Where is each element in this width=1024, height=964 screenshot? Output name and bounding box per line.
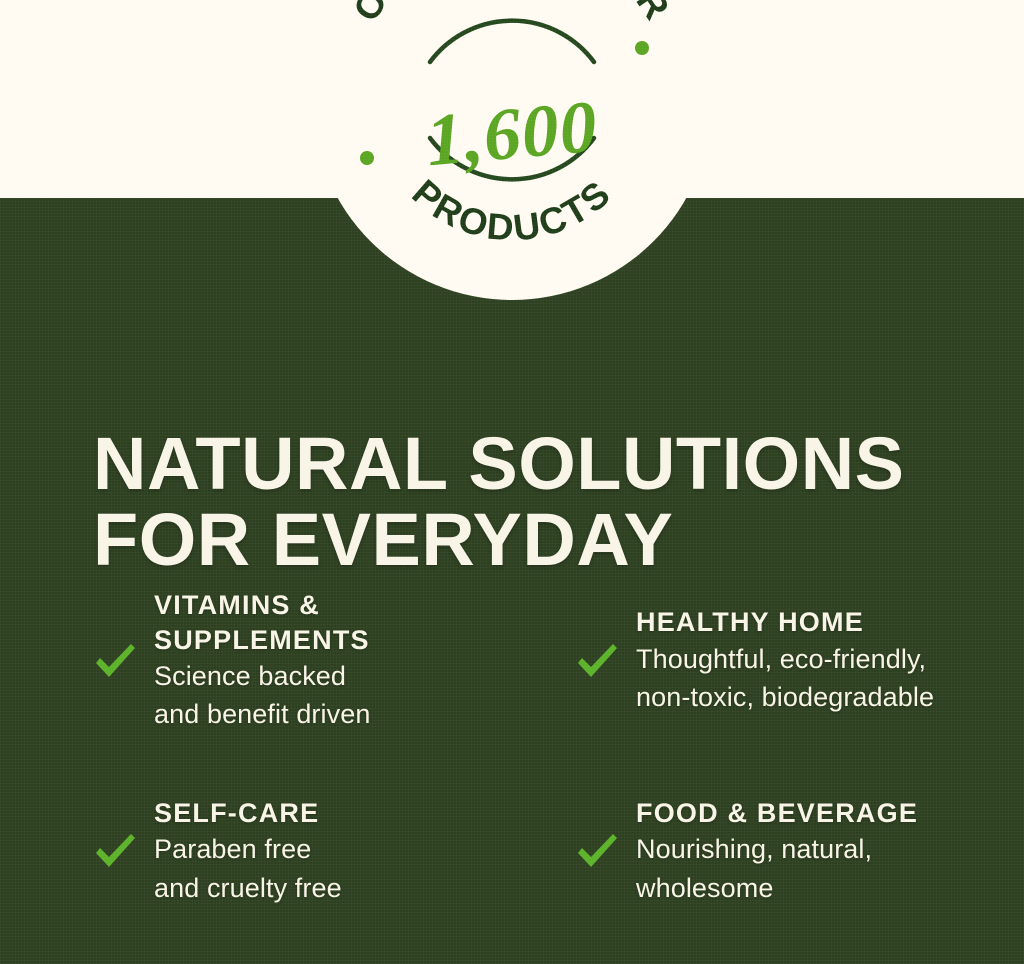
feature-description-line-2: wholesome — [636, 869, 918, 907]
feature-description: Science backed and benefit driven — [154, 657, 370, 734]
feature-title: VITAMINS & — [154, 588, 370, 623]
feature-description: Nourishing, natural, wholesome — [636, 830, 918, 907]
feature-item-healthy-home: HEALTHY HOME Thoughtful, eco-friendly, n… — [574, 588, 1024, 734]
feature-title: HEALTHY HOME — [636, 605, 934, 640]
page-title: NATURAL SOLUTIONS FOR EVERYDAY — [93, 426, 973, 578]
promo-banner: OFFERING OVER PRODUCTS 1,600 NATURAL SOL… — [0, 0, 1024, 964]
feature-list: VITAMINS & SUPPLEMENTS Science backed an… — [0, 588, 1024, 907]
feature-description-line-2: and cruelty free — [154, 869, 342, 907]
feature-description: Paraben free and cruelty free — [154, 830, 342, 907]
feature-description-line-1: Paraben free — [154, 830, 342, 868]
feature-title: FOOD & BEVERAGE — [636, 796, 918, 831]
feature-description-line-1: Science backed — [154, 657, 370, 695]
feature-title: SELF-CARE — [154, 796, 342, 831]
check-icon — [574, 638, 620, 684]
check-icon — [92, 828, 138, 874]
feature-description-line-2: non-toxic, biodegradable — [636, 678, 934, 716]
feature-item-vitamins-supplements: VITAMINS & SUPPLEMENTS Science backed an… — [92, 588, 542, 734]
offering-badge: OFFERING OVER PRODUCTS 1,600 — [312, 0, 712, 300]
feature-text: SELF-CARE Paraben free and cruelty free — [154, 796, 342, 907]
check-icon — [92, 638, 138, 684]
feature-description-line-1: Thoughtful, eco-friendly, — [636, 640, 934, 678]
feature-item-food-beverage: FOOD & BEVERAGE Nourishing, natural, who… — [574, 796, 1024, 907]
badge-dot-right — [635, 41, 649, 55]
check-icon — [574, 828, 620, 874]
feature-text: VITAMINS & SUPPLEMENTS Science backed an… — [154, 588, 370, 734]
badge-arc-top — [430, 21, 594, 62]
feature-title-line-2: SUPPLEMENTS — [154, 623, 370, 658]
feature-description: Thoughtful, eco-friendly, non-toxic, bio… — [636, 640, 934, 717]
feature-item-self-care: SELF-CARE Paraben free and cruelty free — [92, 796, 542, 907]
headline-line-1: NATURAL SOLUTIONS — [93, 426, 973, 502]
headline-line-2: FOR EVERYDAY — [93, 502, 973, 578]
feature-description-line-1: Nourishing, natural, — [636, 830, 918, 868]
badge-inner: OFFERING OVER PRODUCTS 1,600 — [312, 0, 712, 300]
feature-text: FOOD & BEVERAGE Nourishing, natural, who… — [636, 796, 918, 907]
feature-description-line-2: and benefit driven — [154, 695, 370, 733]
feature-text: HEALTHY HOME Thoughtful, eco-friendly, n… — [636, 605, 934, 716]
badge-top-arc-text: OFFERING OVER — [345, 0, 679, 29]
